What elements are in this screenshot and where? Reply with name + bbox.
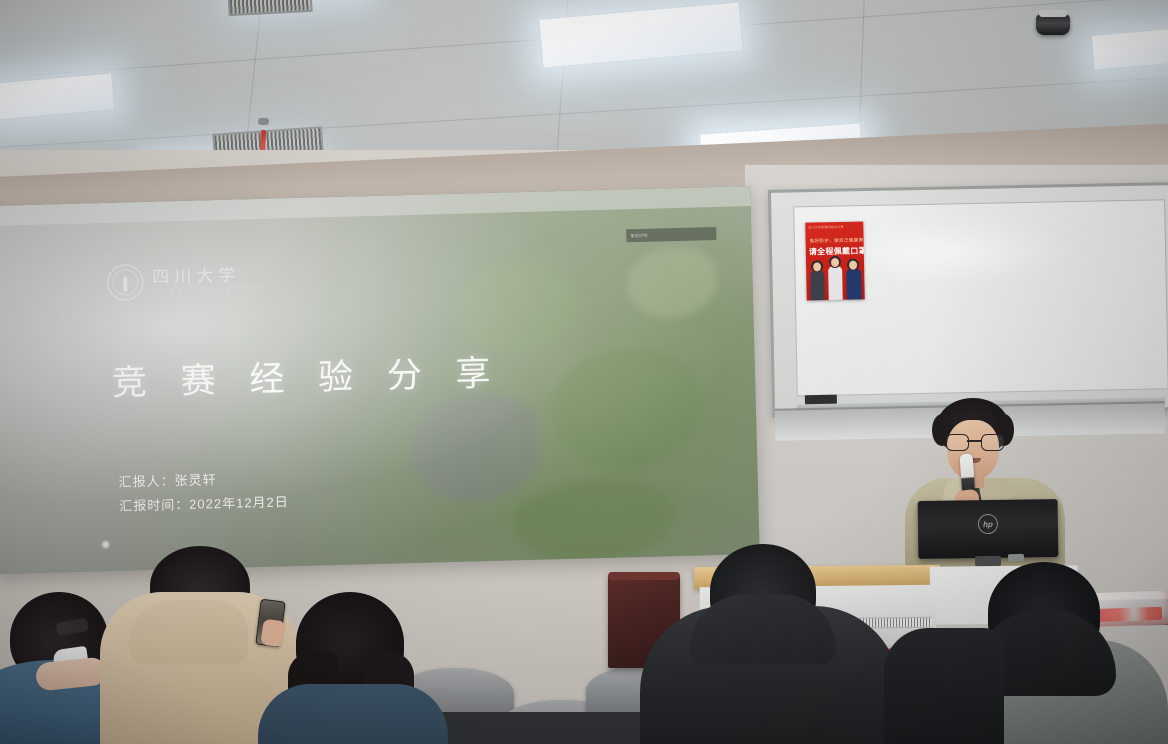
slide-badge: 播放控制 [626,227,716,242]
bag-contents-red [1092,607,1162,622]
slide-date-line: 汇报时间：2022年12月2日 [119,490,289,518]
projection-screen-surface: 四川大学 SICHUAN UNIVERSITY 播放控制 竞 赛 经 验 分 享… [0,186,760,574]
poster-figure-face [849,261,857,270]
whiteboard-eraser [805,395,837,405]
slide-title: 竞 赛 经 验 分 享 [111,345,503,406]
audience-body [884,628,1004,744]
university-logo: 四川大学 SICHUAN UNIVERSITY [107,261,264,301]
security-camera-icon [1036,14,1070,35]
poster-figure-left [810,270,825,300]
audience-hood [690,594,836,664]
poster-line-1: 做好防护，做自己健康第一责任人 [810,237,865,244]
glasses-icon [946,434,1002,449]
poster-figure-center [828,266,843,300]
university-name-cn: 四川大学 [152,266,264,287]
hp-monitor: hp [918,499,1059,559]
audience-body [258,684,448,744]
hp-logo: hp [978,514,998,534]
audience-hand [260,619,285,648]
slide-badge-label: 播放控制 [630,232,648,238]
whiteboard-glare [839,217,1070,285]
tower-icon [121,276,130,291]
projection-screen: 四川大学 SICHUAN UNIVERSITY 播放控制 竞 赛 经 验 分 享… [0,186,760,574]
university-seal-icon [107,264,144,301]
monitor-button[interactable] [1008,554,1024,561]
covid-poster: 四川大学疫情防控办公室 做好防护，做自己健康第一责任人 请全程佩戴口罩 [805,221,864,300]
university-name-en: SICHUAN UNIVERSITY [153,286,265,295]
poster-figure-face [813,262,821,271]
audience-hood [128,600,248,664]
poster-figure-face [831,258,839,267]
lecture-hall-photo: 四川大学 SICHUAN UNIVERSITY 播放控制 竞 赛 经 验 分 享… [0,0,1168,744]
wooden-chair-top-rail [608,572,680,580]
poster-figure-right [846,268,862,299]
poster-header: 四川大学疫情防控办公室 [808,225,843,230]
monitor-stand [975,556,1001,566]
sprinkler-head [258,118,269,125]
